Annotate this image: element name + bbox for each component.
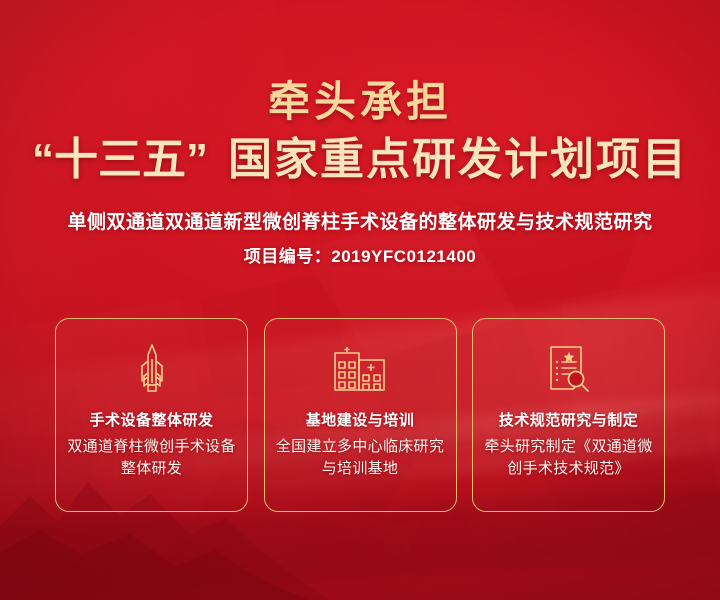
headline-quoted-term: “十三五” xyxy=(32,135,208,184)
project-subtitle: 单侧双通道双通道新型微创脊柱手术设备的整体研发与技术规范研究 xyxy=(0,210,720,236)
feature-card-2[interactable]: 基地建设与培训 全国建立多中心临床研究与培训基地 xyxy=(264,318,457,512)
feature-card-body: 牵头研究制定《双通道微创手术技术规范》 xyxy=(473,436,664,480)
headline-primary: 牵头承担 xyxy=(0,78,720,126)
headline-program-name: 国家重点研发计划项目 xyxy=(228,135,688,184)
headline-secondary: “十三五”国家重点研发计划项目 xyxy=(0,134,720,186)
feature-card-title: 手术设备整体研发 xyxy=(89,409,213,430)
headline-block: 牵头承担 “十三五”国家重点研发计划项目 xyxy=(0,78,720,186)
feature-card-title: 基地建设与培训 xyxy=(306,409,415,430)
hospital-building-icon xyxy=(332,343,388,395)
project-number: 项目编号：2019YFC0121400 xyxy=(0,245,720,269)
feature-card-body: 全国建立多中心临床研究与培训基地 xyxy=(265,436,456,480)
poster-banner: 牵头承担 “十三五”国家重点研发计划项目 单侧双通道双通道新型微创脊柱手术设备的… xyxy=(0,0,720,600)
feature-card-body: 双通道脊柱微创手术设备整体研发 xyxy=(56,436,247,480)
feature-card-3[interactable]: 技术规范研究与制定 牵头研究制定《双通道微创手术技术规范》 xyxy=(472,318,665,512)
document-magnifier-icon xyxy=(545,343,593,395)
feature-card-title: 技术规范研究与制定 xyxy=(499,409,639,430)
feature-card-1[interactable]: 手术设备整体研发 双通道脊柱微创手术设备整体研发 xyxy=(55,318,248,512)
feature-card-list: 手术设备整体研发 双通道脊柱微创手术设备整体研发 xyxy=(55,318,665,512)
rocket-icon xyxy=(132,343,172,395)
